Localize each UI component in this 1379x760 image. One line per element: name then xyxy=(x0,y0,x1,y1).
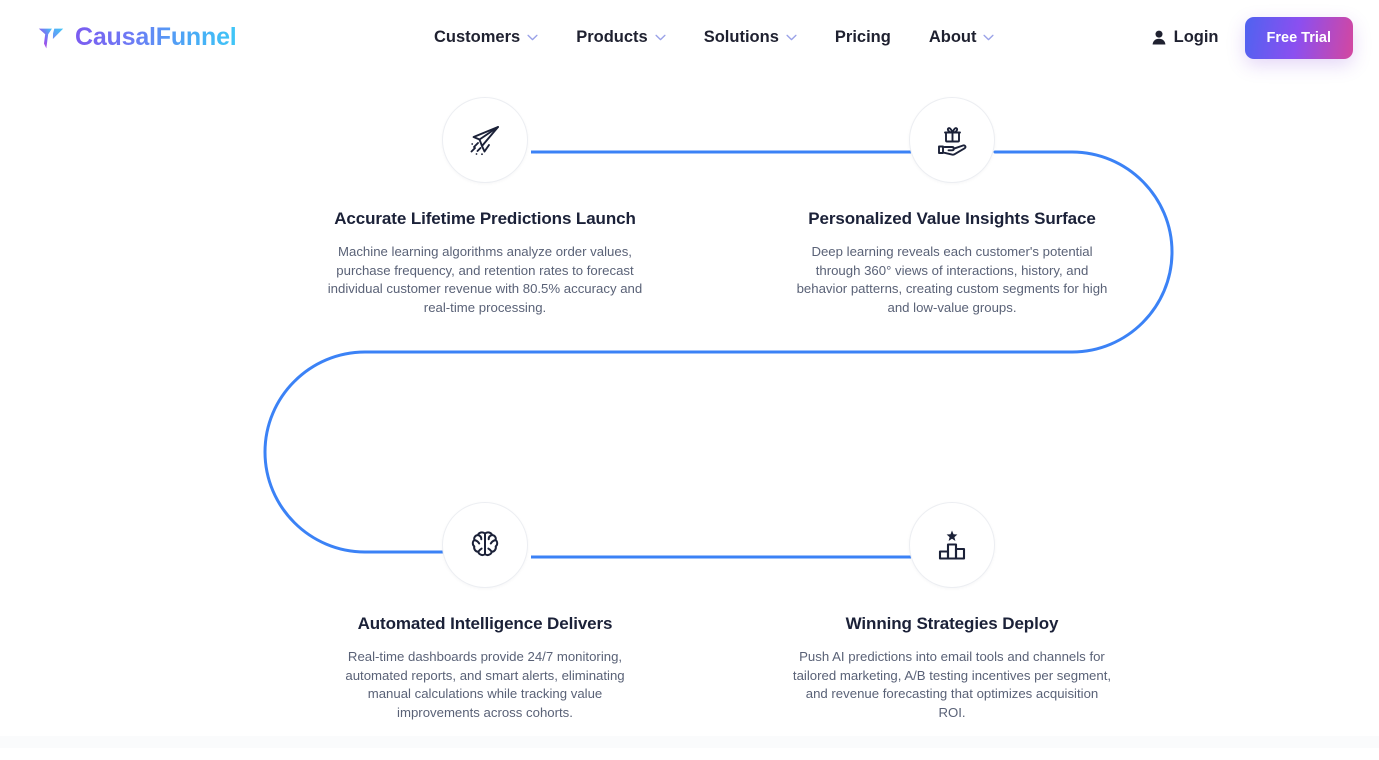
brain-icon xyxy=(465,525,505,565)
brand-name: CausalFunnel xyxy=(75,23,237,52)
main-navigation: Customers Products Solutions Pricing Abo… xyxy=(434,0,994,75)
nav-label: Solutions xyxy=(704,28,779,47)
nav-item-pricing[interactable]: Pricing xyxy=(835,28,891,47)
nav-item-customers[interactable]: Customers xyxy=(434,28,538,47)
nav-item-about[interactable]: About xyxy=(929,28,995,47)
flow-node-2-description: Deep learning reveals each customer's po… xyxy=(792,243,1112,318)
nav-label: About xyxy=(929,28,977,47)
nav-item-products[interactable]: Products xyxy=(576,28,666,47)
flow-connector-path xyxy=(0,75,1379,748)
site-header: CausalFunnel Customers Products Solution… xyxy=(0,0,1379,75)
nav-label: Products xyxy=(576,28,648,47)
funnel-logo-icon xyxy=(36,23,66,53)
chevron-down-icon xyxy=(786,34,797,41)
chevron-down-icon xyxy=(527,34,538,41)
flow-node-1-description: Machine learning algorithms analyze orde… xyxy=(325,243,645,318)
header-actions: Login Free Trial xyxy=(1152,0,1353,75)
flow-node-3-description: Real-time dashboards provide 24/7 monito… xyxy=(325,648,645,723)
process-flow-section: Accurate Lifetime Predictions Launch Mac… xyxy=(0,75,1379,748)
nav-item-solutions[interactable]: Solutions xyxy=(704,28,797,47)
free-trial-button[interactable]: Free Trial xyxy=(1245,17,1353,59)
login-label: Login xyxy=(1174,28,1219,47)
user-icon xyxy=(1152,30,1166,45)
flow-node-1-circle xyxy=(442,97,528,183)
chevron-down-icon xyxy=(983,34,994,41)
flow-node-4[interactable]: Winning Strategies Deploy Push AI predic… xyxy=(792,502,1112,723)
podium-star-icon xyxy=(932,525,972,565)
flow-node-4-title: Winning Strategies Deploy xyxy=(792,614,1112,634)
brand-logo[interactable]: CausalFunnel xyxy=(36,23,237,53)
flow-node-2-title: Personalized Value Insights Surface xyxy=(792,209,1112,229)
page-bottom-divider xyxy=(0,736,1379,748)
chevron-down-icon xyxy=(655,34,666,41)
flow-node-4-description: Push AI predictions into email tools and… xyxy=(792,648,1112,723)
flow-node-2[interactable]: Personalized Value Insights Surface Deep… xyxy=(792,97,1112,318)
nav-label: Pricing xyxy=(835,28,891,47)
flow-node-3-title: Automated Intelligence Delivers xyxy=(325,614,645,634)
flow-node-1[interactable]: Accurate Lifetime Predictions Launch Mac… xyxy=(325,97,645,318)
flow-node-1-title: Accurate Lifetime Predictions Launch xyxy=(325,209,645,229)
paper-plane-launch-icon xyxy=(465,120,505,160)
login-button[interactable]: Login xyxy=(1152,28,1219,47)
gift-in-hand-icon xyxy=(932,120,972,160)
flow-node-2-circle xyxy=(909,97,995,183)
flow-node-4-circle xyxy=(909,502,995,588)
nav-label: Customers xyxy=(434,28,520,47)
flow-node-3-circle xyxy=(442,502,528,588)
flow-node-3[interactable]: Automated Intelligence Delivers Real-tim… xyxy=(325,502,645,723)
